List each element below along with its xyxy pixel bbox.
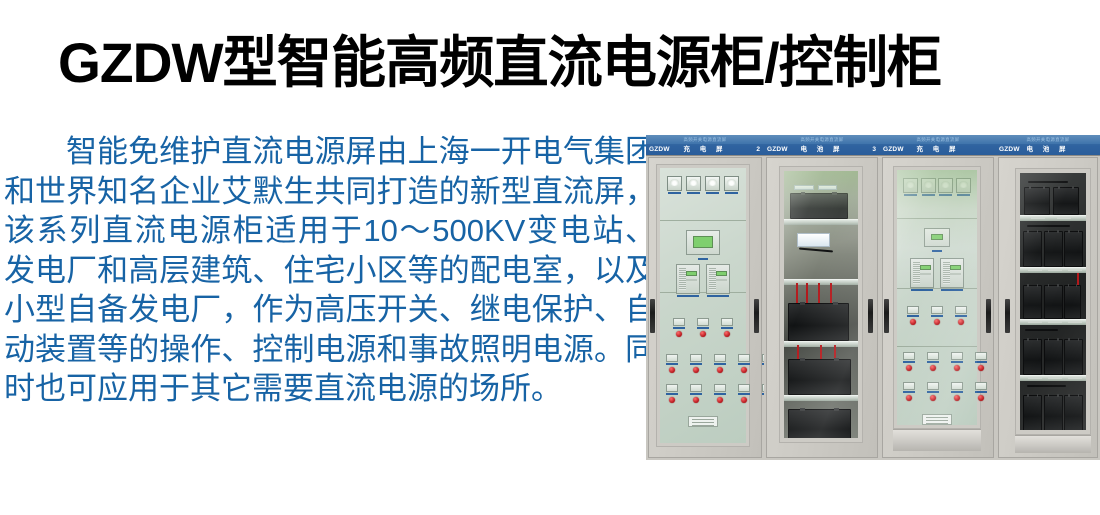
cabinet-2: 高频开关电源直流屏 GZDW 电 池 屏 3 [764,135,880,460]
cabinet-2-door-handle[interactable] [868,299,873,333]
control-switch [955,306,967,325]
busbar [830,283,832,305]
cabinet-3-upper-text: 高频开关电源直流屏 [880,135,996,144]
page-title: GZDW型智能高频直流电源柜/控制柜 [58,32,1053,94]
cabinet-3-rectifier-modules [910,258,964,288]
indicator-led [700,331,706,337]
busbar [806,283,808,305]
window-reflection [797,233,830,247]
busbar [796,283,798,305]
circuit-breaker [951,352,963,371]
cabinet-3-hinge [884,299,889,333]
circuit-breaker [927,352,939,371]
battery-unit [1053,187,1079,215]
cabinet-2-name: 电 池 屏 [764,144,880,156]
battery-unit [788,303,849,341]
busbar [818,283,820,305]
circuit-breaker [927,382,939,401]
indicator-led [934,319,940,325]
cabinet-2-signage: 高频开关电源直流屏 GZDW 电 池 屏 3 [764,135,880,156]
indicator-led [958,319,964,325]
circuit-breaker [903,382,915,401]
cabinet-1-rectifier-modules [676,264,730,294]
voltmeter-icon [921,178,936,193]
cabinet-4-upper-text: 高频开关电源直流屏 [996,135,1100,144]
control-switch [697,318,709,337]
voltmeter-icon [686,176,701,191]
circuit-breaker [975,382,987,401]
monitor-display [686,230,720,255]
cabinet-4-sign-lower: GZDW 电 池 屏 [996,144,1100,156]
cabinet-3-plinth [893,429,981,451]
lcd-screen [693,236,713,248]
cabinet-1-sign-lower: GZDW 充 电 屏 2 [646,144,764,156]
monitor-label [698,258,708,260]
indicator-led [906,365,912,371]
battery-shelf [784,219,858,225]
battery-unit [1064,395,1083,430]
cabinet-1: 高频开关电源直流屏 GZDW 充 电 屏 2 [646,135,764,460]
product-photo: 高频开关电源直流屏 GZDW 充 电 屏 2 [646,135,1100,460]
cabinet-4-plinth [1015,435,1091,453]
rectifier-module [940,258,964,288]
circuit-breaker [714,354,726,373]
voltmeter-icon [956,178,971,193]
cabinet-3-door [893,166,981,429]
cabinet-1-switch-row-1 [660,318,746,337]
cabinet-4-door [1015,168,1091,435]
indicator-led [954,395,960,401]
cabinet-2-body [766,157,878,458]
battery-unit [788,409,850,438]
control-switch [907,306,919,325]
control-switch [931,306,943,325]
cabinet-2-upper-text: 高频开关电源直流屏 [764,135,880,144]
cabinet-4-body [998,157,1098,458]
lcd-screen [931,234,943,240]
indicator-led [978,395,984,401]
cabinet-1-hinge [650,299,655,333]
cabinet-3-signage: 高频开关电源直流屏 GZDW 充 电 屏 [880,135,996,156]
indicator-led [724,331,730,337]
cabinet-1-upper-text: 高频开关电源直流屏 [646,135,764,144]
battery-unit [788,359,850,395]
ammeter-icon [667,176,682,191]
battery-unit [790,193,848,219]
monitor-display [924,228,950,247]
cabinet-2-sign-lower: GZDW 电 池 屏 3 [764,144,880,156]
rectifier-module [706,264,730,294]
cabinet-4-signage: 高频开关电源直流屏 GZDW 电 池 屏 [996,135,1100,156]
circuit-breaker [738,354,750,373]
cabinet-2-door [779,166,863,443]
cabinet-3-nameplate [922,414,952,425]
cabinet-1-breaker-row-1 [660,354,746,373]
circuit-breaker [738,384,750,403]
battery-unit [1023,285,1042,319]
indicator-led [910,319,916,325]
circuit-breaker [666,354,678,373]
indicator-led [669,367,675,373]
cabinet-1-nameplate [688,416,718,427]
indicator-led [717,367,723,373]
battery-unit [1044,231,1063,267]
voltmeter-icon [724,176,739,191]
ammeter-icon [938,178,953,193]
cabinet-3-body [882,157,994,458]
cabinet-1-door-handle[interactable] [754,299,759,333]
battery-unit [1024,187,1050,215]
indicator-led [717,397,723,403]
battery-unit [1044,285,1063,319]
cabinet-3-switch-row-1 [897,306,977,325]
cabinet-3-name: 充 电 屏 [880,144,996,156]
indicator-led [954,365,960,371]
cabinet-1-signage: 高频开关电源直流屏 GZDW 充 电 屏 2 [646,135,764,156]
cabinet-3-door-handle[interactable] [986,299,991,333]
product-description-paragraph: 智能免维护直流电源屏由上海一开电气集团和世界知名企业艾默生共同打造的新型直流屏，… [4,132,656,409]
cabinet-3-meter-row [903,178,970,193]
indicator-led [930,365,936,371]
battery-unit [1023,339,1042,375]
circuit-breaker [690,384,702,403]
cabinet-4: 高频开关电源直流屏 GZDW 电 池 屏 [996,135,1100,460]
cabinet-3-breaker-row-2 [897,382,977,401]
indicator-led [669,397,675,403]
circuit-breaker [690,354,702,373]
battery-unit [1023,231,1042,267]
indicator-led [930,395,936,401]
indicator-led [978,365,984,371]
cabinet-4-name: 电 池 屏 [996,144,1100,156]
ceiling-lamp-reflection [818,185,837,190]
cabinet-1-breaker-row-2 [660,384,746,403]
ammeter-icon [903,178,918,193]
battery-unit [1064,231,1083,267]
cabinet-4-glass-window [1020,173,1086,430]
cabinet-4-door-handle[interactable] [1005,299,1010,333]
indicator-led [676,331,682,337]
control-switch [673,318,685,337]
battery-unit [1044,395,1063,430]
cabinet-3-control-panel [897,170,977,425]
battery-shelf [784,395,858,401]
indicator-led [906,395,912,401]
cabinet-1-number: 2 [756,144,760,156]
indicator-led [741,397,747,403]
page-root: GZDW型智能高频直流电源柜/控制柜 智能免维护直流电源屏由上海一开电气集团和世… [0,0,1100,515]
circuit-breaker [951,382,963,401]
monitor-label [932,250,942,252]
ammeter-icon [705,176,720,191]
cabinet-1-meter-row [667,176,739,191]
cabinet-1-body [648,157,762,458]
cabinet-2-glass-window [784,171,858,438]
circuit-breaker [666,384,678,403]
indicator-led [741,367,747,373]
rectifier-module [676,264,700,294]
ceiling-lamp-reflection [794,185,813,190]
cabinet-1-control-panel [660,168,746,443]
battery-unit [1044,339,1063,375]
battery-unit [1023,395,1042,430]
cabinet-3: 高频开关电源直流屏 GZDW 充 电 屏 [880,135,996,460]
circuit-breaker [975,352,987,371]
indicator-led [693,367,699,373]
cabinet-1-name: 充 电 屏 [646,144,764,156]
circuit-breaker [714,384,726,403]
cabinet-3-sign-lower: GZDW 充 电 屏 [880,144,996,156]
battery-unit [1064,285,1081,319]
rectifier-module [910,258,934,288]
cabinet-1-door [656,164,750,447]
battery-unit [1064,339,1083,375]
cabinet-3-breaker-row-1 [897,352,977,371]
circuit-breaker [903,352,915,371]
cabinet-2-number: 3 [872,144,876,156]
control-switch [721,318,733,337]
indicator-led [693,397,699,403]
